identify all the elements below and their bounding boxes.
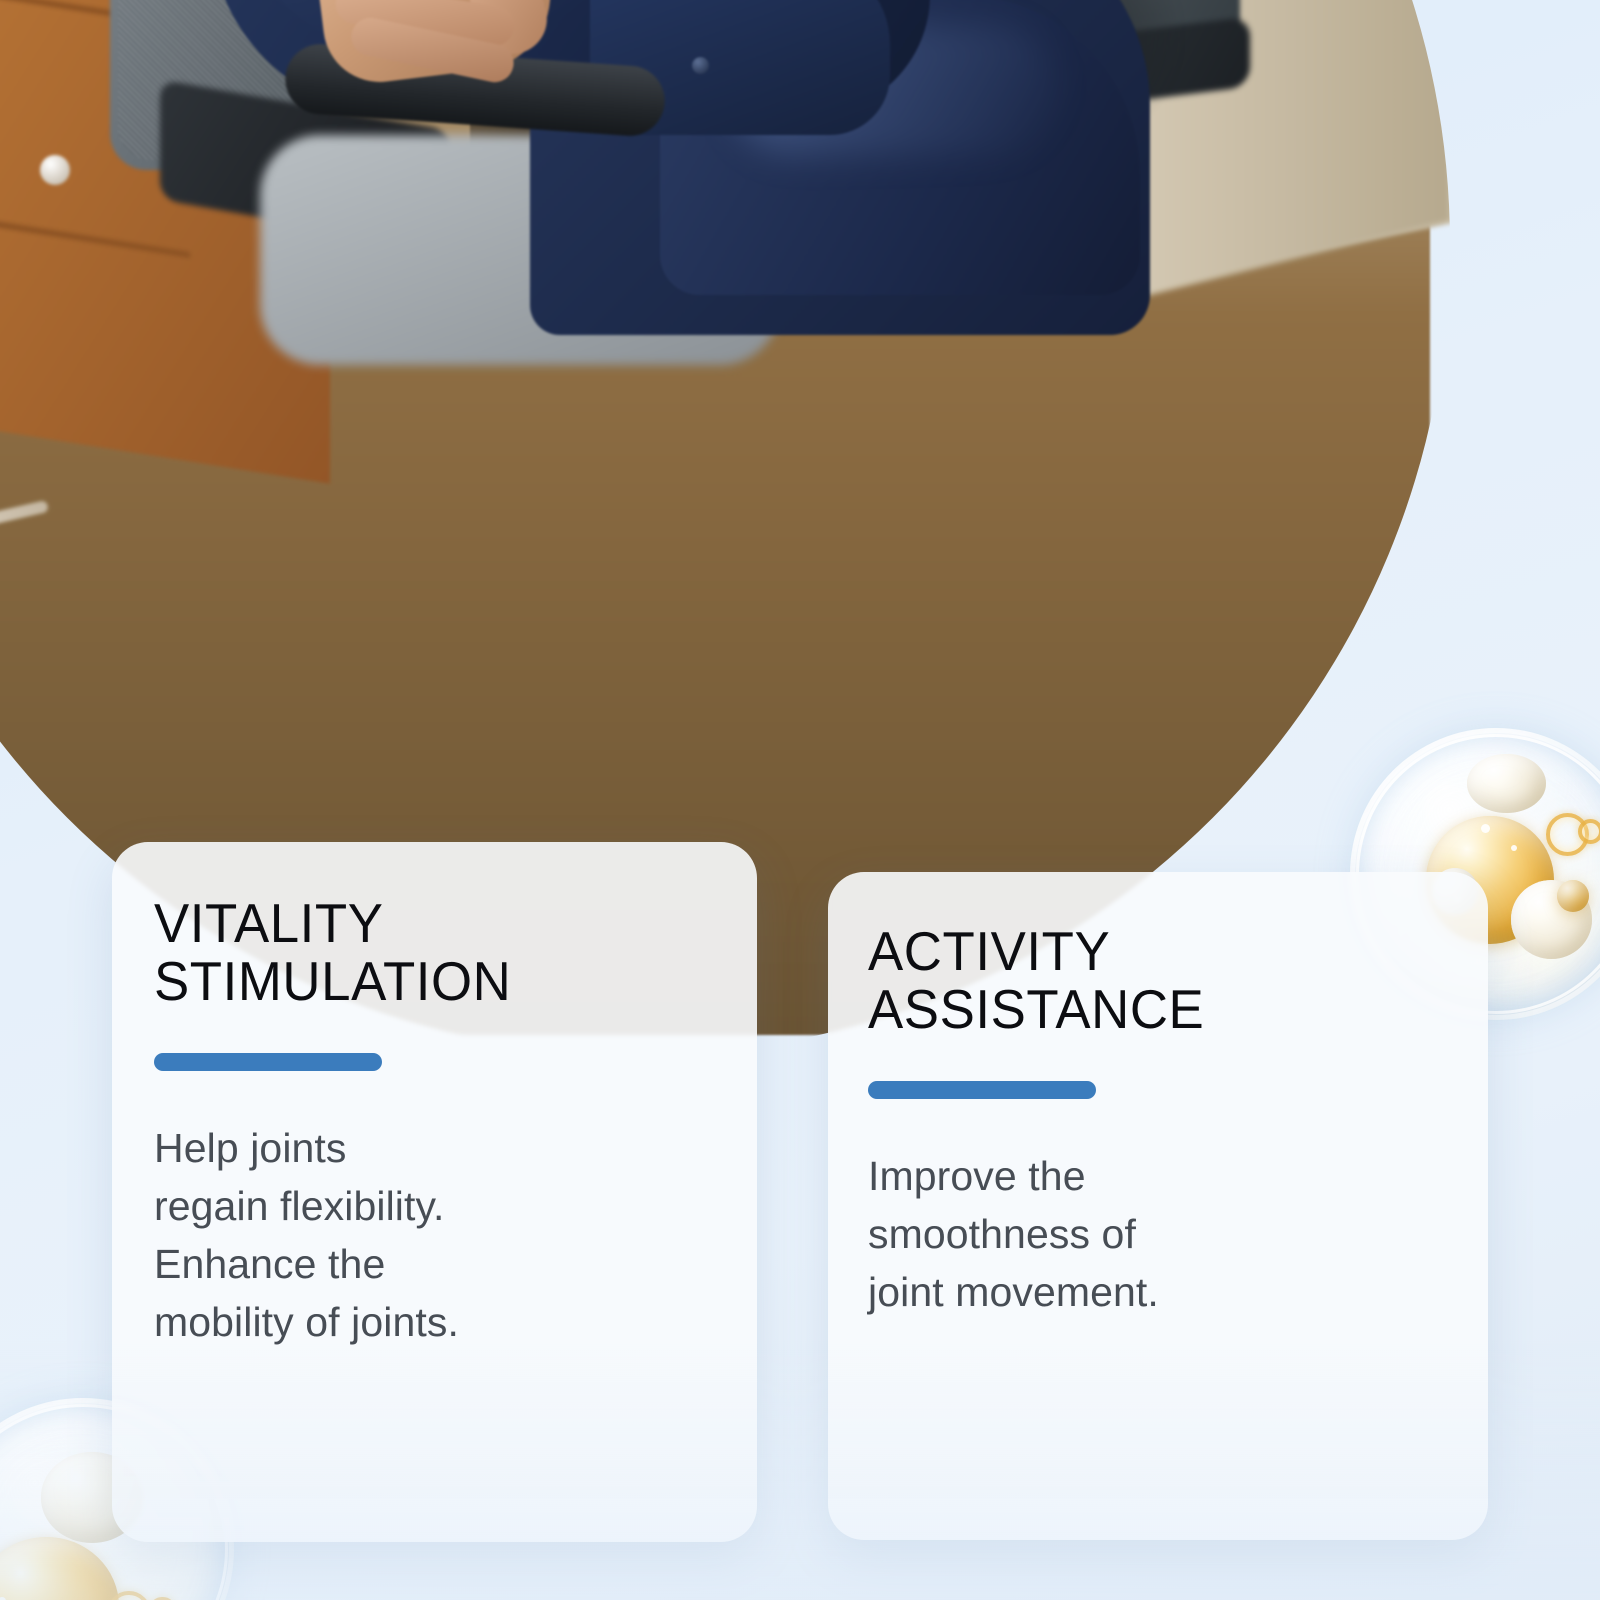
pale-droplet-top [1467, 754, 1546, 812]
accent-bar [868, 1081, 1096, 1099]
sparkle-b [1511, 845, 1517, 851]
jacket-button [692, 57, 709, 74]
accent-bar [154, 1053, 382, 1071]
card-content: VITALITY STIMULATION Help joints regain … [154, 894, 723, 1392]
card-content: ACTIVITY ASSISTANCE Improve the smoothne… [868, 922, 1454, 1362]
card-body-text: Improve the smoothness of joint movement… [868, 1147, 1454, 1322]
card-body-text: Help joints regain flexibility. Enhance … [154, 1119, 723, 1352]
card-activity-assistance[interactable]: ACTIVITY ASSISTANCE Improve the smoothne… [828, 872, 1488, 1540]
drawer-knob [40, 155, 70, 185]
poster-canvas: VITALITY STIMULATION Help joints regain … [0, 0, 1600, 1600]
card-title: VITALITY STIMULATION [154, 894, 700, 1011]
card-title: ACTIVITY ASSISTANCE [868, 922, 1431, 1039]
card-vitality-stimulation[interactable]: VITALITY STIMULATION Help joints regain … [112, 842, 757, 1542]
droplet-ring-tiny [1578, 819, 1600, 845]
